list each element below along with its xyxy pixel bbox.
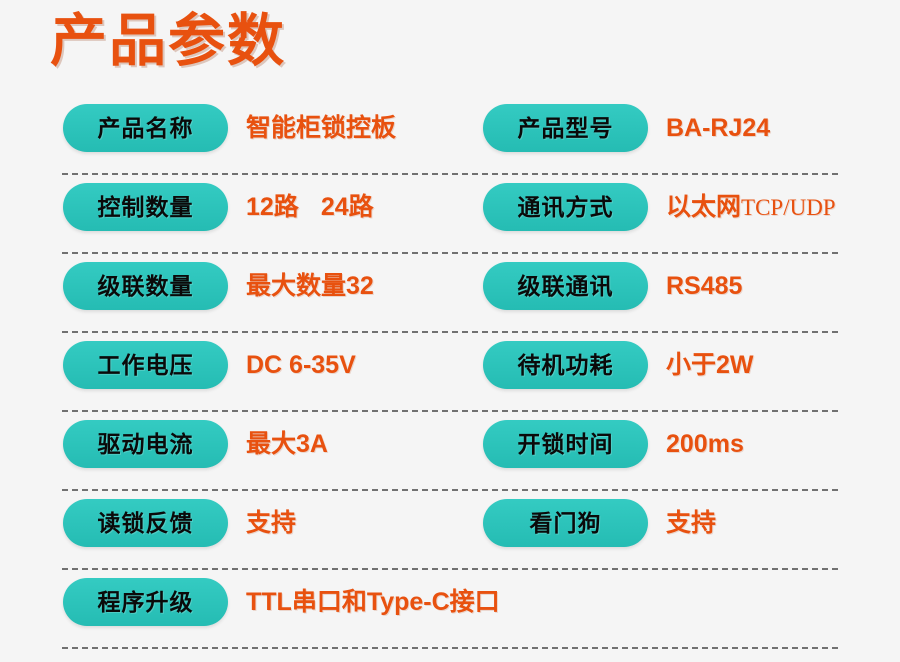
spec-label-pill: 待机功耗 <box>483 341 648 389</box>
spec-row: 产品名称 智能柜锁控板 产品型号 BA-RJ24 <box>0 96 900 175</box>
spec-cell-working-voltage: 工作电压 DC 6-35V <box>63 340 356 390</box>
spec-value-text: BA-RJ24 <box>666 116 770 141</box>
spec-row: 控制数量 12路24路 通讯方式 以太网TCP/UDP <box>0 175 900 254</box>
spec-row: 级联数量 最大数量32 级联通讯 RS485 <box>0 254 900 333</box>
spec-cell-communication-mode: 通讯方式 以太网TCP/UDP <box>483 182 836 232</box>
spec-table: 产品名称 智能柜锁控板 产品型号 BA-RJ24 控制数量 12路24路 <box>0 96 900 649</box>
spec-cell-firmware-upgrade: 程序升级 TTL串口和Type-C接口 <box>63 577 500 627</box>
spec-label-text: 级联通讯 <box>518 275 614 298</box>
spec-cell-product-model: 产品型号 BA-RJ24 <box>483 103 770 153</box>
spec-value-part-a: 12路 <box>246 193 299 221</box>
spec-value-text: RS485 <box>666 274 742 299</box>
product-spec-page: 产品参数 产品名称 智能柜锁控板 产品型号 BA-RJ24 控制数量 <box>0 0 900 662</box>
spec-cell-drive-current: 驱动电流 最大3A <box>63 419 328 469</box>
spec-label-pill: 产品型号 <box>483 104 648 152</box>
spec-label-text: 产品名称 <box>98 117 194 140</box>
spec-value-text: 12路24路 <box>246 195 374 220</box>
spec-label-text: 通讯方式 <box>518 196 614 219</box>
spec-cell-unlock-time: 开锁时间 200ms <box>483 419 744 469</box>
spec-value-text: 智能柜锁控板 <box>246 116 396 141</box>
spec-value-text: 小于2W <box>666 353 754 378</box>
spec-value-text: 最大数量32 <box>246 274 374 299</box>
spec-value-text: 最大3A <box>246 432 328 457</box>
spec-label-pill: 级联数量 <box>63 262 228 310</box>
spec-cell-control-quantity: 控制数量 12路24路 <box>63 182 374 232</box>
spec-label-pill: 程序升级 <box>63 578 228 626</box>
row-divider <box>62 647 838 649</box>
spec-label-pill: 产品名称 <box>63 104 228 152</box>
spec-label-text: 控制数量 <box>98 196 194 219</box>
spec-value-text: DC 6-35V <box>246 353 356 378</box>
spec-label-text: 读锁反馈 <box>98 512 194 535</box>
spec-value-text: 支持 <box>246 511 296 536</box>
spec-label-pill: 读锁反馈 <box>63 499 228 547</box>
spec-value-tail: TCP/UDP <box>741 195 836 220</box>
spec-row: 驱动电流 最大3A 开锁时间 200ms <box>0 412 900 491</box>
spec-value-text: 200ms <box>666 432 744 457</box>
page-title: 产品参数 <box>50 4 286 78</box>
spec-value-text: TTL串口和Type-C接口 <box>246 590 500 615</box>
spec-label-text: 开锁时间 <box>518 433 614 456</box>
spec-cell-watchdog: 看门狗 支持 <box>483 498 716 548</box>
spec-row: 读锁反馈 支持 看门狗 支持 <box>0 491 900 570</box>
spec-label-text: 程序升级 <box>98 591 194 614</box>
spec-label-pill: 工作电压 <box>63 341 228 389</box>
spec-label-pill: 开锁时间 <box>483 420 648 468</box>
spec-cell-standby-power: 待机功耗 小于2W <box>483 340 754 390</box>
spec-value-text: 以太网TCP/UDP <box>666 195 836 220</box>
spec-cell-cascade-quantity: 级联数量 最大数量32 <box>63 261 374 311</box>
spec-row: 工作电压 DC 6-35V 待机功耗 小于2W <box>0 333 900 412</box>
spec-cell-lock-feedback: 读锁反馈 支持 <box>63 498 296 548</box>
spec-row: 程序升级 TTL串口和Type-C接口 <box>0 570 900 649</box>
spec-label-pill: 控制数量 <box>63 183 228 231</box>
spec-label-pill: 驱动电流 <box>63 420 228 468</box>
spec-value-main: 以太网 <box>666 193 741 221</box>
spec-cell-cascade-communication: 级联通讯 RS485 <box>483 261 742 311</box>
spec-value-text: 支持 <box>666 511 716 536</box>
spec-value-part-b: 24路 <box>321 193 374 221</box>
spec-label-pill: 级联通讯 <box>483 262 648 310</box>
spec-label-text: 看门狗 <box>530 512 602 535</box>
spec-label-pill: 通讯方式 <box>483 183 648 231</box>
spec-label-text: 工作电压 <box>98 354 194 377</box>
spec-label-text: 驱动电流 <box>98 433 194 456</box>
spec-label-text: 级联数量 <box>98 275 194 298</box>
spec-label-pill: 看门狗 <box>483 499 648 547</box>
spec-label-text: 产品型号 <box>518 117 614 140</box>
spec-cell-product-name: 产品名称 智能柜锁控板 <box>63 103 396 153</box>
spec-label-text: 待机功耗 <box>518 354 614 377</box>
